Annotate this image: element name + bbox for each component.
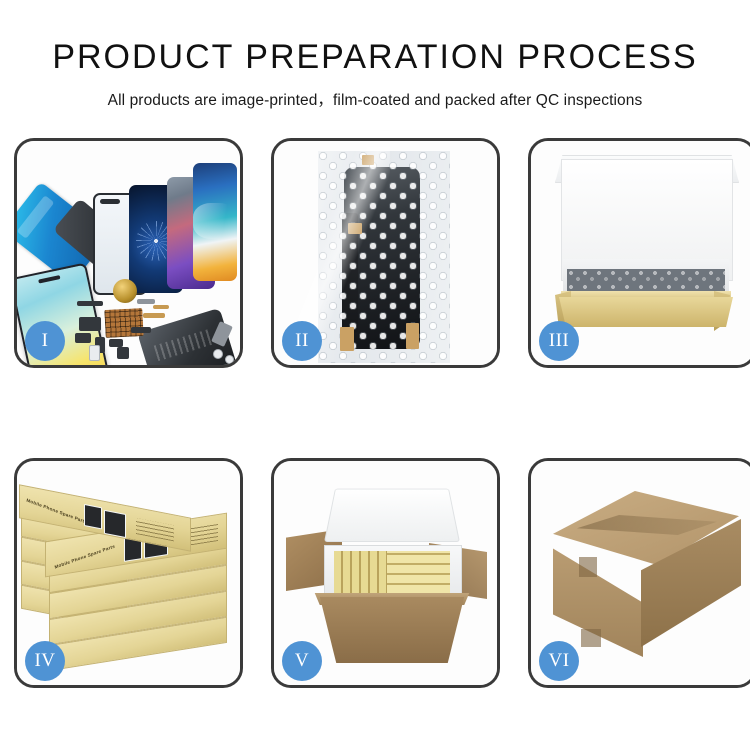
step-badge-6: VI xyxy=(539,641,579,681)
part-flex-cable-2 xyxy=(143,313,165,318)
part-strip-3 xyxy=(131,327,151,333)
step-badge-2: II xyxy=(282,321,322,361)
step-panel-5[interactable]: V xyxy=(271,458,500,688)
box-label-phone-image-c xyxy=(84,504,102,529)
process-steps-grid: I II III xyxy=(14,138,746,688)
foam-lid-open xyxy=(324,489,460,542)
box-label-front: Mobile Phone Spare Parts xyxy=(54,544,115,570)
carton-body xyxy=(310,597,474,663)
part-strip-1 xyxy=(77,301,103,306)
vibration-motor-part xyxy=(113,279,137,303)
box-front-panel xyxy=(559,297,733,327)
part-screw-1 xyxy=(213,349,223,359)
box-label-spec-lines-back xyxy=(136,518,174,541)
part-block-4 xyxy=(109,339,123,347)
box-label-back: Mobile Phone Spare Parts xyxy=(26,498,87,525)
copper-chip-grid xyxy=(104,308,143,338)
phone-teal-gradient xyxy=(193,163,237,281)
step-badge-4: IV xyxy=(25,641,65,681)
step-badge-1: I xyxy=(25,321,65,361)
page-title: PRODUCT PREPARATION PROCESS xyxy=(0,40,750,76)
part-connector-white xyxy=(89,345,100,361)
carton-tape-lower xyxy=(581,629,601,647)
part-strip-2 xyxy=(137,299,155,304)
step-panel-1[interactable]: I xyxy=(14,138,243,368)
step-panel-6[interactable]: VI xyxy=(528,458,750,688)
page-subtitle: All products are image-printed，film-coat… xyxy=(0,88,750,110)
part-block-2 xyxy=(75,333,91,343)
step-panel-3[interactable]: III xyxy=(528,138,750,368)
step-panel-2[interactable]: II xyxy=(271,138,500,368)
box-label-phone-image-d xyxy=(104,510,126,538)
yellow-boxes-inside xyxy=(334,551,450,593)
part-flex-cable-1 xyxy=(153,305,169,309)
carton-tape-upper xyxy=(579,557,597,577)
part-screw-2 xyxy=(225,355,234,364)
part-camera-module xyxy=(117,347,129,359)
page-header: PRODUCT PREPARATION PROCESS All products… xyxy=(0,0,750,110)
step-badge-3: III xyxy=(539,321,579,361)
step-panel-4[interactable]: Mobile Phone Spare Parts Mobile Phone Sp… xyxy=(14,458,243,688)
tape-piece-bottom-right xyxy=(406,323,419,349)
part-block-1 xyxy=(79,317,101,331)
step-badge-5: V xyxy=(282,641,322,681)
